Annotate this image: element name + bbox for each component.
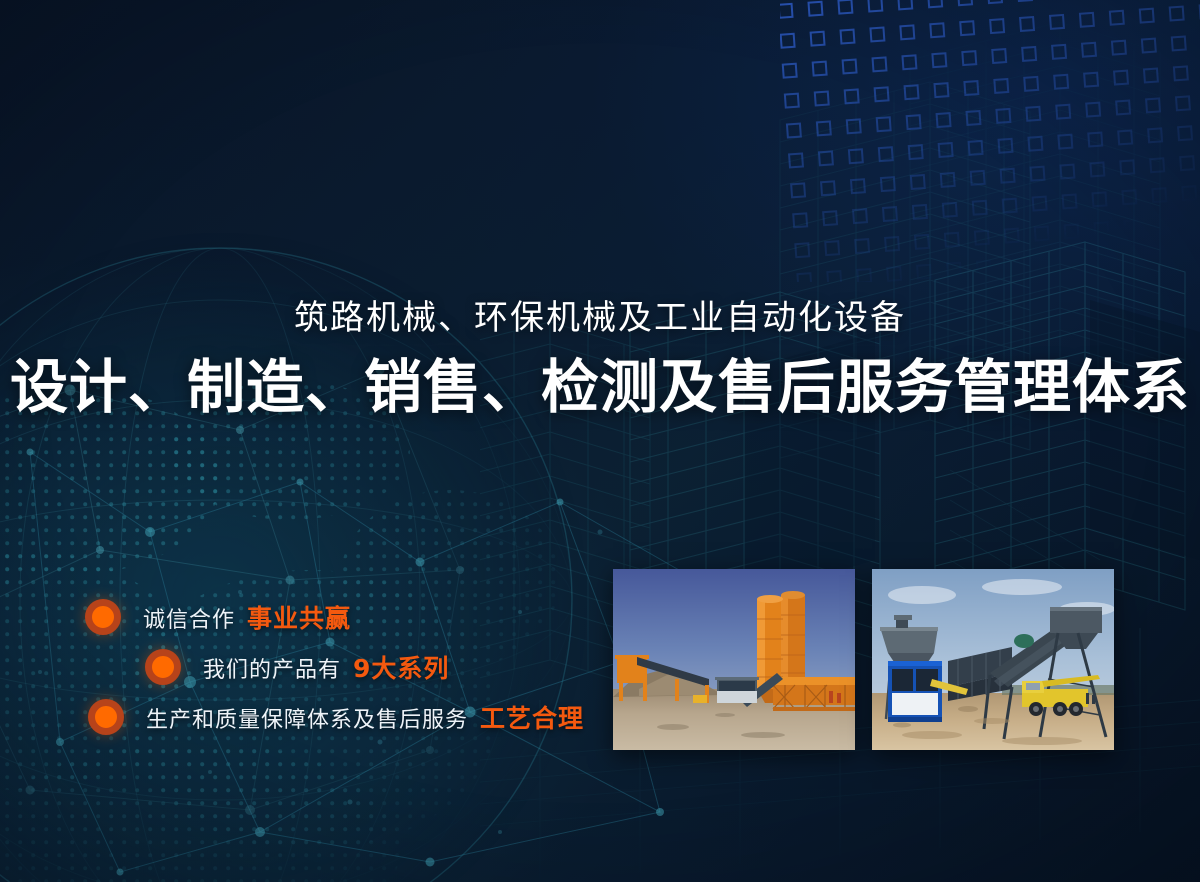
bullet-dot-icon — [88, 699, 124, 735]
bullet-text: 我们的产品有 9大系列 — [203, 649, 449, 685]
list-item: 生产和质量保障体系及售后服务 工艺合理 — [0, 692, 600, 742]
bullet-plain-text: 生产和质量保障体系及售后服务 — [146, 702, 468, 734]
bullet-text: 诚信合作 事业共赢 — [143, 599, 351, 635]
feature-bullet-list: 诚信合作 事业共赢 我们的产品有 9大系列 生产和质量保障体系及售后服务 工艺合… — [0, 592, 600, 742]
bullet-dot-icon — [145, 649, 181, 685]
dotted-globe-graphic — [0, 150, 670, 882]
banner-title: 设计、制造、销售、检测及售后服务管理体系 — [0, 352, 1200, 422]
bullet-plain-text: 诚信合作 — [143, 602, 235, 634]
bullet-highlight-text: 9大系列 — [353, 649, 449, 685]
concrete-batching-plant-photo — [613, 569, 855, 750]
bullet-plain-text: 我们的产品有 — [203, 652, 341, 684]
mobile-mixing-plant-photo — [872, 569, 1114, 750]
list-item: 我们的产品有 9大系列 — [0, 642, 600, 692]
banner-subtitle: 筑路机械、环保机械及工业自动化设备 — [0, 296, 1200, 340]
photo-gallery — [613, 569, 1114, 750]
list-item: 诚信合作 事业共赢 — [0, 592, 600, 642]
bullet-text: 生产和质量保障体系及售后服务 工艺合理 — [146, 699, 584, 735]
promo-banner: 筑路机械、环保机械及工业自动化设备 设计、制造、销售、检测及售后服务管理体系 诚… — [0, 0, 1200, 882]
square-grid-graphic — [780, 0, 1200, 282]
bullet-highlight-text: 事业共赢 — [247, 599, 351, 635]
bullet-dot-icon — [85, 599, 121, 635]
bullet-highlight-text: 工艺合理 — [480, 699, 584, 735]
headline-block: 筑路机械、环保机械及工业自动化设备 设计、制造、销售、检测及售后服务管理体系 — [0, 296, 1200, 422]
